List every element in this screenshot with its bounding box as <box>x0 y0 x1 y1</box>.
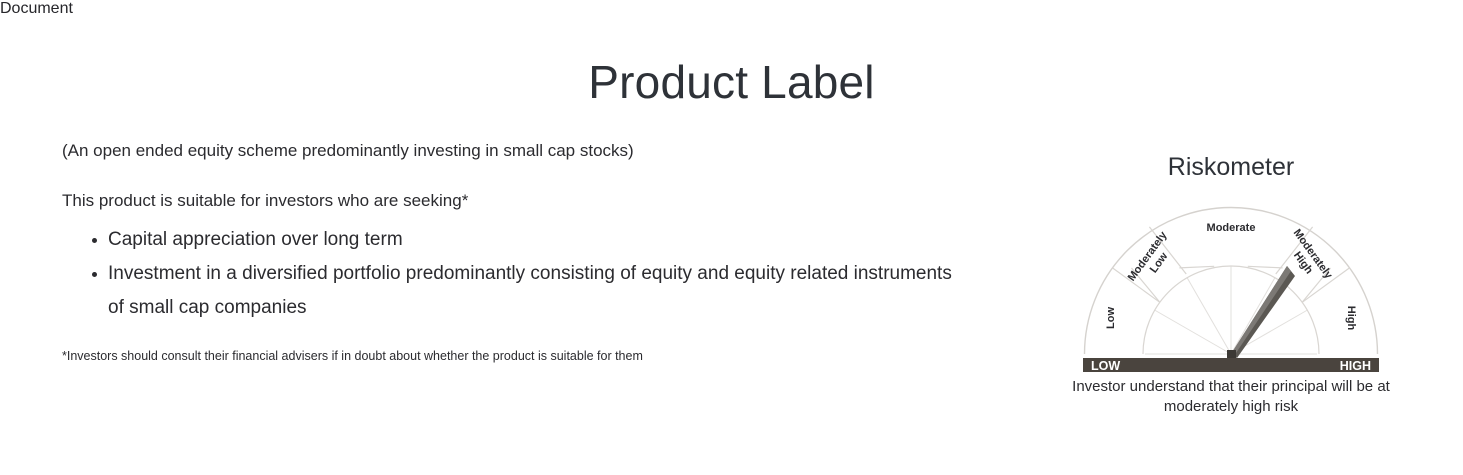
gauge-scale-high-label: HIGH <box>1340 359 1371 372</box>
list-item: Capital appreciation over long term <box>108 223 962 257</box>
gauge-needle-hub <box>1227 350 1236 358</box>
suitability-list: Capital appreciation over long term Inve… <box>62 223 962 324</box>
page-title: Product Label <box>0 55 1463 110</box>
gauge-scale-low-label: LOW <box>1091 359 1120 372</box>
suitability-intro: This product is suitable for investors w… <box>62 188 962 214</box>
riskometer-gauge: Low Moderately Low Moderate Moderately H… <box>1083 198 1379 372</box>
segment-label-moderate: Moderate <box>1207 222 1256 234</box>
segment-label-low: Low <box>1105 307 1117 329</box>
list-item: Investment in a diversified portfolio pr… <box>108 257 962 325</box>
footnote: *Investors should consult their financia… <box>62 348 962 366</box>
segment-label-high: High <box>1345 306 1357 331</box>
product-label-content: (An open ended equity scheme predominant… <box>62 138 962 366</box>
riskometer-heading: Riskometer <box>1061 152 1401 182</box>
segment-label-moderately-low: Moderately Low <box>1126 227 1182 291</box>
riskometer-panel: Riskometer <box>1061 152 1401 417</box>
riskometer-caption: Investor understand that their principal… <box>1061 377 1401 417</box>
scheme-description: (An open ended equity scheme predominant… <box>62 138 962 164</box>
riskometer-gauge-svg: Low Moderately Low Moderate Moderately H… <box>1083 198 1379 372</box>
gauge-scale-bar <box>1083 358 1379 372</box>
